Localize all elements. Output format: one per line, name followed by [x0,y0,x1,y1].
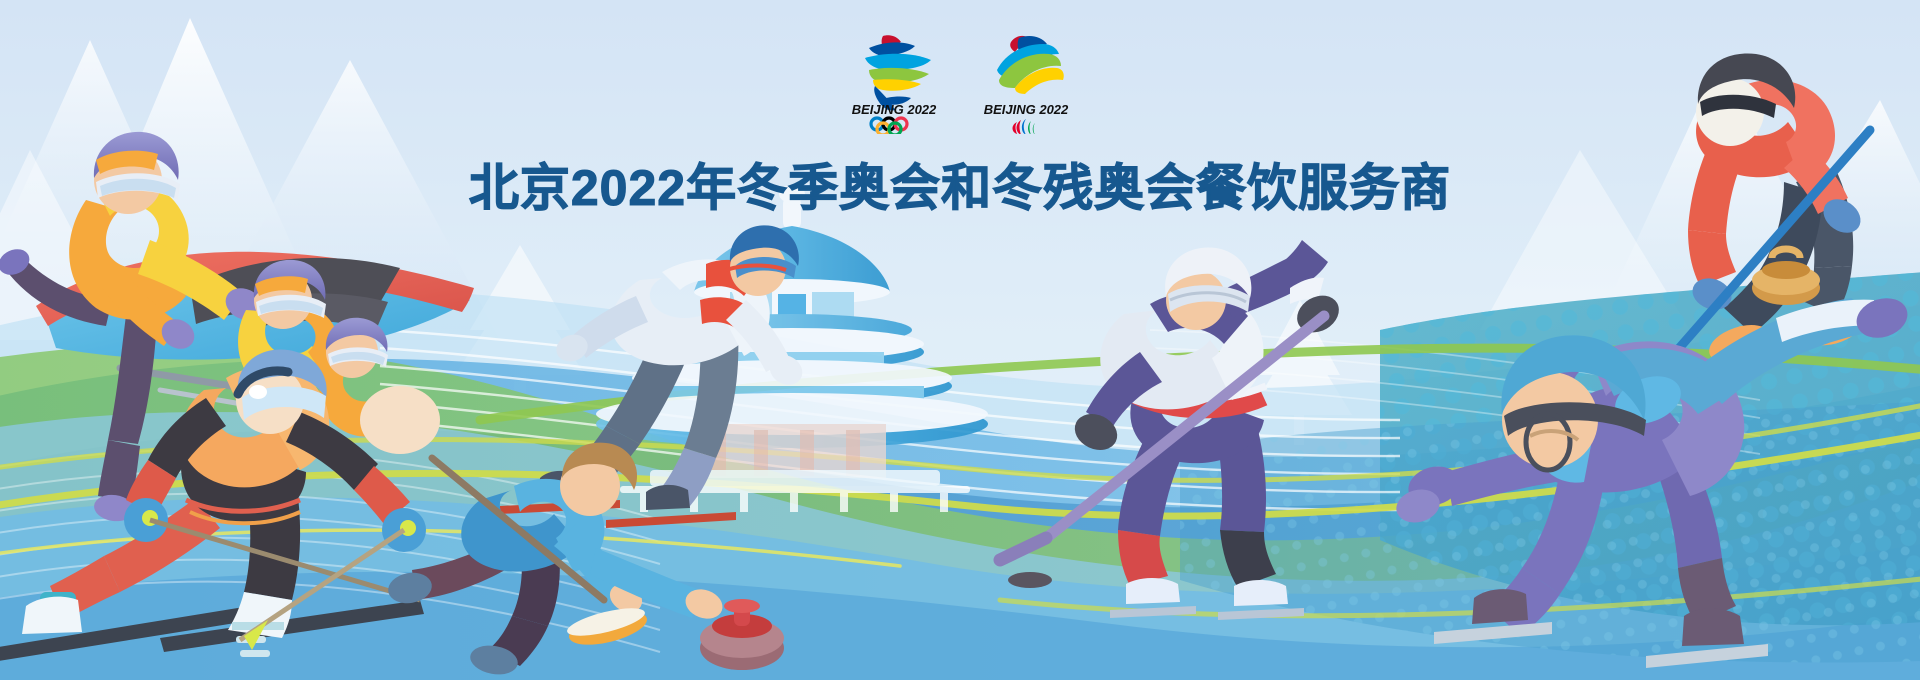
beijing-2022-wordmark-olympic: BEIJING 2022 [852,102,937,117]
olympic-emblem-ribbon [865,35,931,110]
curler-sweeping [386,443,784,678]
olympic-banner: BEIJING 2022 [0,0,1920,680]
speed-skater-right [1393,292,1913,668]
emblem-group: BEIJING 2022 [0,0,1920,134]
svg-text:BEIJING 2022: BEIJING 2022 [852,102,937,117]
banner-header: BEIJING 2022 [0,0,1920,220]
svg-text:BEIJING 2022: BEIJING 2022 [984,102,1069,117]
beijing-2022-wordmark-paralympic: BEIJING 2022 [984,102,1069,117]
beijing-2022-olympic-winter-games-emblem: BEIJING 2022 [839,26,949,134]
agitos-icon [1013,119,1036,134]
cross-country-skier [0,349,426,664]
ice-hockey-player [1000,240,1346,620]
page-title: 北京2022年冬季奥会和冬残奥会餐饮服务商 [0,148,1920,220]
beijing-2022-paralympic-winter-games-emblem: BEIJING 2022 [971,26,1081,134]
paralympic-emblem-ribbon [997,36,1064,94]
olympic-rings [871,118,907,134]
